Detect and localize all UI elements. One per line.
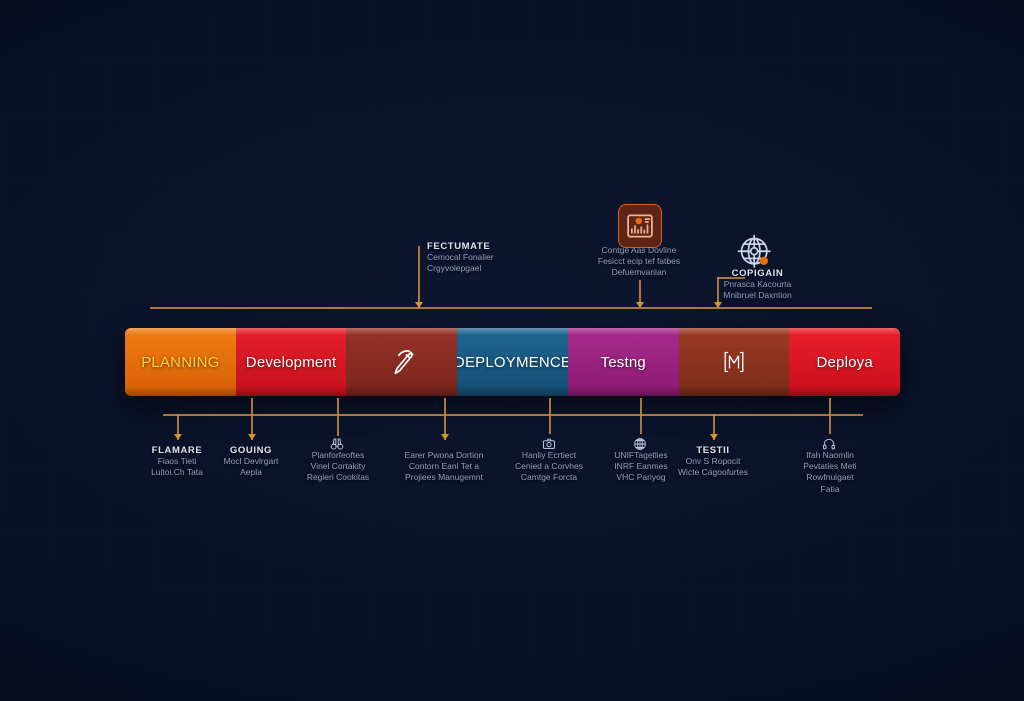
annotation-hanliy-line-2: Cenied a Corvhes [500,461,598,472]
bottom-arrow-testii [710,434,718,440]
bottom-stem-hanliy [549,398,551,434]
bracket-m-icon [719,347,749,377]
timeline-segment-testing-label: Testng [601,354,646,371]
timeline-segment-deploymence-label: DEPLOYMENCE [457,354,568,371]
timeline-segment-maintenance[interactable] [679,328,790,396]
bottom-arrow-earer [441,434,449,440]
annotation-config-line-3: Defuemvariian [579,267,699,278]
timeline-segment-planning[interactable]: PLANNING [125,328,236,396]
headset-icon [822,437,836,451]
timeline-segment-design[interactable] [346,328,457,396]
annotation-copigain-line-1: Pnrasca Kacourta [700,279,815,290]
timeline-segment-testing[interactable]: Testng [568,328,679,396]
annotation-planfer-line-2: Vinel Cortakity [291,461,385,472]
annotation-testii-line-1: Onv S Ropocit [657,456,769,467]
top-arrow-config [636,302,644,308]
annotation-config-line-1: Contge Aas Dovline [579,245,699,256]
annotation-ifah-line-4: Fatia [784,484,876,495]
globe-target-icon [735,232,775,272]
annotation-testii-line-2: Wicte Cagoofurtes [657,467,769,478]
annotation-earer-line-3: Projiees Manugemnt [388,472,500,483]
annotation-copigain-line-2: Mnibruel Daxntion [700,290,815,301]
annotation-gouing[interactable]: GOUING Mocl Devlrgart Aepla [206,445,296,478]
annotation-hanliy-line-1: Hanliy Ecrtiect [500,450,598,461]
config-chart-icon [618,204,662,248]
binoculars-icon [330,437,344,451]
annotation-recumate-title: FECTUMATE [427,241,537,252]
camera-icon [542,437,556,451]
timeline-segment-deploya-label: Deploya [816,354,872,371]
annotation-earer[interactable]: Earer Pwona Dortion Contorn Eanl Tet a P… [388,450,500,484]
bottom-stem-uniftagr [640,398,642,434]
annotation-ifah-line-2: Pevtaties Meti [784,461,876,472]
annotation-hanliy[interactable]: Hanliy Ecrtiect Cenied a Corvhes Camtge … [500,450,598,484]
grid-globe-icon [633,437,647,451]
annotation-ifah[interactable]: Ifah Naomlin Pevtaties Meti Rowfnuigaet … [784,450,876,495]
annotation-recumate-line-2: Crgyvolepgael [427,263,537,274]
bottom-arrow-gouing [248,434,256,440]
bottom-stem-planfer [337,398,339,436]
annotation-copigain[interactable]: COPIGAIN Pnrasca Kacourta Mnibruel Daxnt… [700,268,815,301]
annotation-planfer-line-3: Regieri Cookitas [291,472,385,483]
annotation-recumate[interactable]: FECTUMATE Cemocal Fonalier Crgyvolepgael [427,241,537,274]
top-connector-recumate [418,246,420,308]
annotation-recumate-line-1: Cemocal Fonalier [427,252,537,263]
annotation-earer-line-2: Contorn Eanl Tet a [388,461,500,472]
annotation-earer-line-1: Earer Pwona Dortion [388,450,500,461]
pipeline-timeline-bar[interactable]: PLANNING Development DEPLOYMENCE Testng [125,328,900,396]
annotation-testii-title: TESTII [657,445,769,456]
annotation-ifah-line-1: Ifah Naomlin [784,450,876,461]
timeline-segment-deploymence[interactable]: DEPLOYMENCE [457,328,568,396]
annotation-planfer[interactable]: Planforfeoftes Vinel Cortakity Regieri C… [291,450,385,484]
annotation-ifah-line-3: Rowfnuigaet [784,472,876,483]
annotation-gouing-line-2: Aepla [206,467,296,478]
annotation-hanliy-line-3: Camtge Forcta [500,472,598,483]
timeline-segment-planning-label: PLANNING [141,354,219,371]
annotation-gouing-title: GOUING [206,445,296,456]
pen-tool-icon [387,347,417,377]
top-connector-rail [150,307,872,309]
annotation-config-documentation[interactable]: Contge Aas Dovline Fesicct ecip tef fatb… [579,245,699,279]
bottom-connector-rail [163,414,863,416]
timeline-segment-development-label: Development [246,354,337,371]
top-arrow-copigain [714,302,722,308]
annotation-gouing-line-1: Mocl Devlrgart [206,456,296,467]
annotation-config-line-2: Fesicct ecip tef fatbes [579,256,699,267]
timeline-segment-deploya[interactable]: Deploya [789,328,900,396]
timeline-segment-development[interactable]: Development [236,328,347,396]
bottom-stem-ifah [829,398,831,434]
annotation-copigain-title: COPIGAIN [700,268,815,279]
annotation-planfer-line-1: Planforfeoftes [291,450,385,461]
diagram-canvas: FECTUMATE Cemocal Fonalier Crgyvolepgael… [0,0,1024,701]
annotation-testii[interactable]: TESTII Onv S Ropocit Wicte Cagoofurtes [657,445,769,478]
top-arrow-recumate [415,302,423,308]
bottom-arrow-flamare [174,434,182,440]
